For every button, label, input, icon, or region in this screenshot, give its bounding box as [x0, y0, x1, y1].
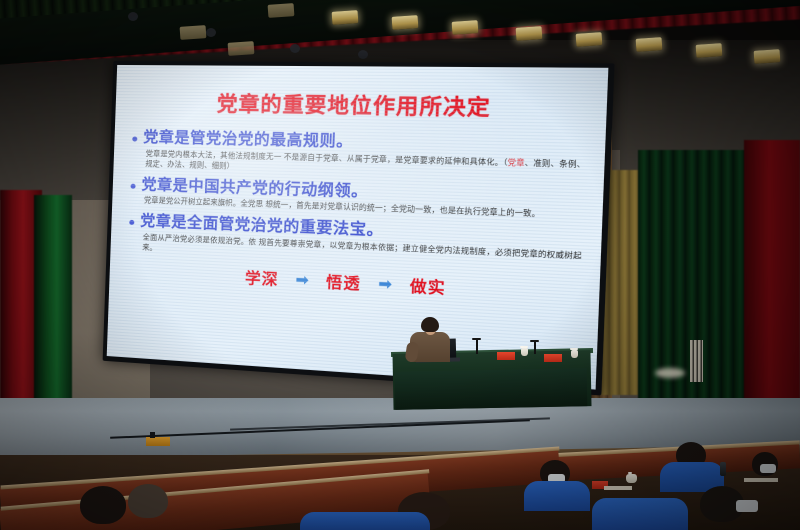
- stage-light-icon: [754, 49, 781, 64]
- stage-light-icon: [180, 25, 207, 40]
- face-mask-icon: [760, 464, 776, 473]
- bullet-body-highlight: 党章: [507, 157, 524, 167]
- truss-clamp-icon: [358, 50, 368, 59]
- audience-shoulders: [592, 498, 688, 530]
- stage-light-icon: [392, 15, 419, 30]
- nameplate: [544, 354, 562, 362]
- teapot-lid-icon: [628, 472, 632, 474]
- stage-light-icon: [268, 3, 295, 18]
- stage-light-icon: [636, 37, 663, 52]
- bullet-dot-icon: [129, 220, 134, 225]
- stage-light-icon: [332, 10, 359, 25]
- stage-di-box-knob-icon: [150, 432, 155, 438]
- face-mask-icon: [736, 500, 758, 512]
- stage-di-box: [146, 437, 170, 446]
- stage-light-icon: [516, 26, 543, 41]
- teacup: [571, 350, 578, 358]
- presenter-hair: [421, 317, 439, 332]
- flow-arrow-icon: ➡: [295, 273, 309, 289]
- teacup-lid-icon: [520, 346, 528, 348]
- microphone-head-icon: [530, 340, 539, 342]
- stage-stand: [690, 340, 703, 382]
- microphone-icon: [476, 340, 478, 354]
- presenter-table-skirt: [395, 368, 588, 410]
- notebook: [744, 478, 778, 482]
- stage-light-icon: [452, 20, 479, 35]
- microphone-icon: [534, 342, 536, 354]
- teacup-lid-icon: [570, 348, 578, 350]
- curtain-red-far-right: [744, 140, 800, 405]
- audience-head: [128, 484, 168, 518]
- lecture-hall-photo: 党章的重要地位作用所决定 党章是管党治党的最高规则。 党章是党内根本大法，其他法…: [0, 0, 800, 530]
- audience-head: [80, 486, 126, 524]
- stage-light-icon: [576, 32, 603, 47]
- slide-title: 党章的重要地位作用所决定: [133, 86, 588, 123]
- stage-light-icon: [696, 43, 723, 58]
- microphone-head-icon: [472, 338, 481, 340]
- flow-step-2: 悟透: [326, 271, 362, 295]
- flow-step-3: 做实: [409, 275, 446, 299]
- truss-clamp-icon: [290, 44, 300, 53]
- teacup: [521, 348, 528, 356]
- flow-step-1: 学深: [245, 267, 279, 290]
- stage-light-icon: [228, 41, 255, 56]
- notebook: [604, 486, 632, 490]
- presentation-screen: 党章的重要地位作用所决定 党章是管党治党的最高规则。 党章是党内根本大法，其他法…: [108, 61, 568, 361]
- floor-light-reflection: [655, 368, 685, 378]
- audience-shoulders: [300, 512, 430, 530]
- bullet-dot-icon: [132, 136, 137, 141]
- nameplate: [497, 352, 515, 360]
- truss-clamp-icon: [206, 28, 216, 37]
- truss-clamp-icon: [128, 12, 138, 21]
- teapot: [626, 474, 637, 483]
- slide-bullet: 党章是管党治党的最高规则。 党章是党内根本大法，其他法规制度无一 不是源自于党章…: [131, 128, 586, 182]
- bullet-dot-icon: [131, 183, 136, 188]
- flow-arrow-icon: ➡: [378, 277, 392, 294]
- audience-shoulders: [524, 481, 590, 511]
- screen-bezel: 党章的重要地位作用所决定 党章是管党治党的最高规则。 党章是党内根本大法，其他法…: [103, 61, 615, 396]
- curtain-green-left: [34, 195, 72, 420]
- water-bottle: [720, 462, 726, 476]
